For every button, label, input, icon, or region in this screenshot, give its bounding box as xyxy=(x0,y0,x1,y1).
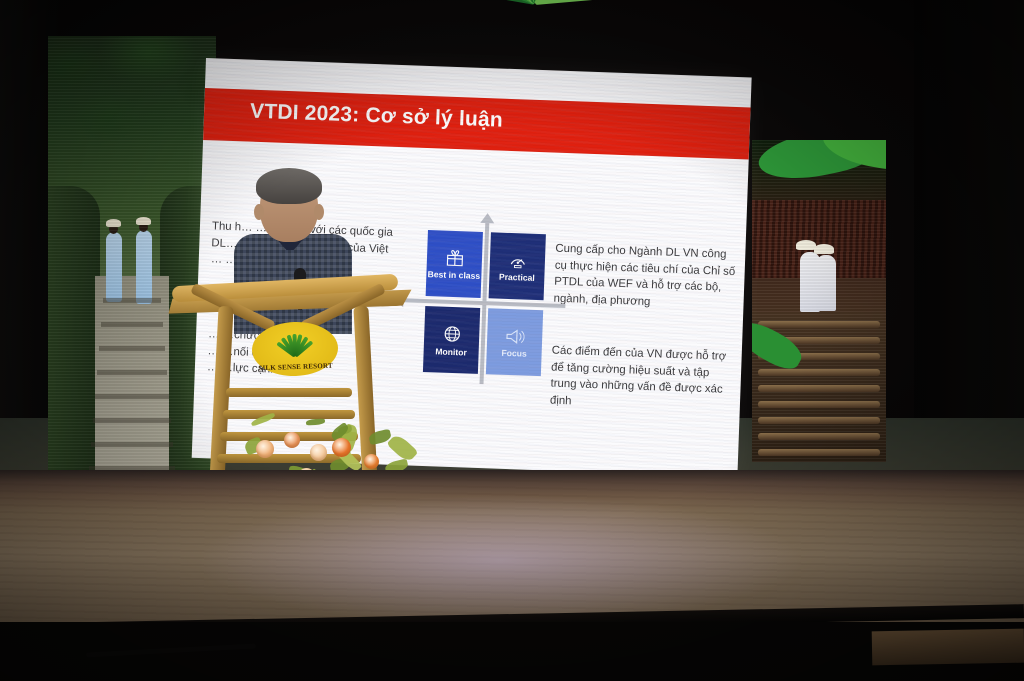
flower-bloom xyxy=(332,438,351,457)
stair-tread xyxy=(758,449,880,456)
path-step xyxy=(97,370,167,375)
slide-text-bottom-right: Các điểm đến của VN được hỗ trợ để tăng … xyxy=(550,343,734,415)
quadrant-focus: Focus xyxy=(486,308,543,376)
stair-tread xyxy=(758,369,880,376)
path-step xyxy=(99,346,165,351)
quadrant-label: Best in class xyxy=(427,269,480,281)
stair-tread xyxy=(758,321,880,328)
figure-white-aodai-2 xyxy=(816,255,836,311)
figure-blue-aodai-2 xyxy=(136,230,152,304)
conical-hat-1 xyxy=(106,219,121,227)
foliage-sprig xyxy=(250,412,275,426)
stair-tread xyxy=(758,401,880,408)
palm-frond-decoration xyxy=(440,0,630,26)
stair-tread xyxy=(758,385,880,392)
quadrant-monitor: Monitor xyxy=(423,306,480,374)
quadrant-label: Practical xyxy=(499,271,535,282)
stage-scene: VTDI 2023: Cơ sở lý luận Thu h… …ng cách… xyxy=(0,0,1024,681)
frond-blade xyxy=(535,0,597,5)
gift-icon xyxy=(444,248,465,267)
quadrant-label: Monitor xyxy=(435,346,467,357)
path-step xyxy=(103,298,161,303)
flower-bloom xyxy=(256,440,274,458)
stair-tread xyxy=(758,417,880,424)
stair-tread xyxy=(758,433,880,440)
megaphone-icon xyxy=(503,326,526,345)
speaker-hair xyxy=(256,168,322,204)
flower-bloom xyxy=(310,444,327,461)
conical-hat-4 xyxy=(814,244,834,254)
quadrant-label: Focus xyxy=(501,347,527,358)
flower-bloom xyxy=(284,432,300,448)
foliage-sprig xyxy=(306,418,326,425)
tree-canopy xyxy=(48,36,216,186)
resort-logo-text: SILK SENSE RESORT xyxy=(258,362,333,373)
path-step xyxy=(93,418,171,423)
path-step xyxy=(91,442,173,447)
conical-hat-2 xyxy=(136,217,151,225)
speedometer-icon xyxy=(507,250,528,269)
figure-blue-aodai-1 xyxy=(106,232,122,302)
right-photo-panel xyxy=(752,140,886,462)
slide-text-top-right: Cung cấp cho Ngành DL VN công cụ thực hi… xyxy=(553,241,737,313)
conical-hat-3 xyxy=(796,240,816,250)
speaker-ear-left xyxy=(254,204,264,220)
quadrant-practical: Practical xyxy=(489,232,546,300)
flower-bloom xyxy=(364,454,379,469)
palm-leaf-mark xyxy=(271,329,318,357)
podium-slat-1 xyxy=(226,388,352,397)
quadrant-best-in-class: Best in class xyxy=(426,230,483,298)
stage-step xyxy=(872,629,1024,666)
path-step xyxy=(101,322,163,327)
quadrant-matrix: Best in class Practical xyxy=(423,230,546,376)
globe-icon xyxy=(441,323,462,344)
hedge-left xyxy=(48,186,100,510)
path-step xyxy=(95,394,169,399)
speaker-ear-right xyxy=(314,204,324,220)
